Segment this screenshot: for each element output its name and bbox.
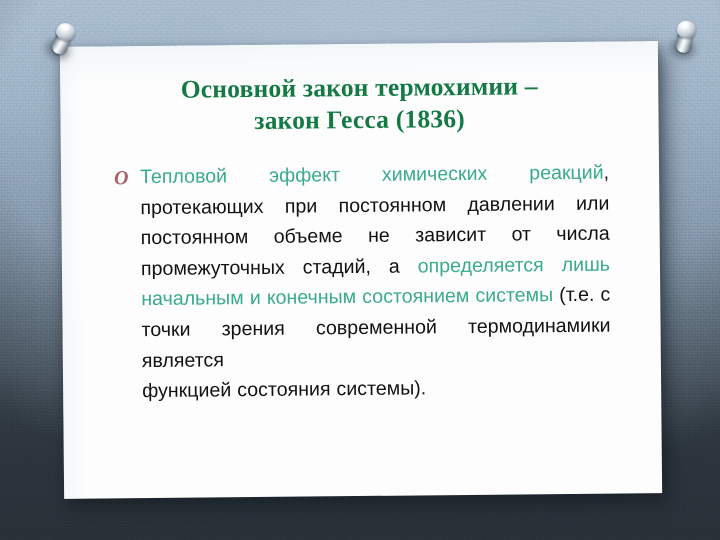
slide-title: Основной закон термохимии – закон Гесса … <box>94 69 625 138</box>
slide-canvas: Основной закон термохимии – закон Гесса … <box>0 0 720 540</box>
title-line-2: закон Гесса (1836) <box>94 101 624 138</box>
bullet-o-icon: O <box>114 163 129 194</box>
paper-sheet: Основной закон термохимии – закон Гесса … <box>60 41 662 499</box>
body-text-block: O Тепловой эффект химических реакций, пр… <box>109 158 611 408</box>
slide-content: Основной закон термохимии – закон Гесса … <box>60 41 662 499</box>
title-line-1: Основной закон термохимии – <box>94 69 624 106</box>
body-segment-plain-3: функцией состояния системы). <box>142 372 611 407</box>
pushpin-top-right <box>666 17 707 64</box>
bullet-list-item: O Тепловой эффект химических реакций, пр… <box>109 158 611 408</box>
body-segment-highlight-1: Тепловой эффект химических реакций <box>140 162 604 188</box>
body-paragraph: Тепловой эффект химических реакций, прот… <box>140 158 611 407</box>
